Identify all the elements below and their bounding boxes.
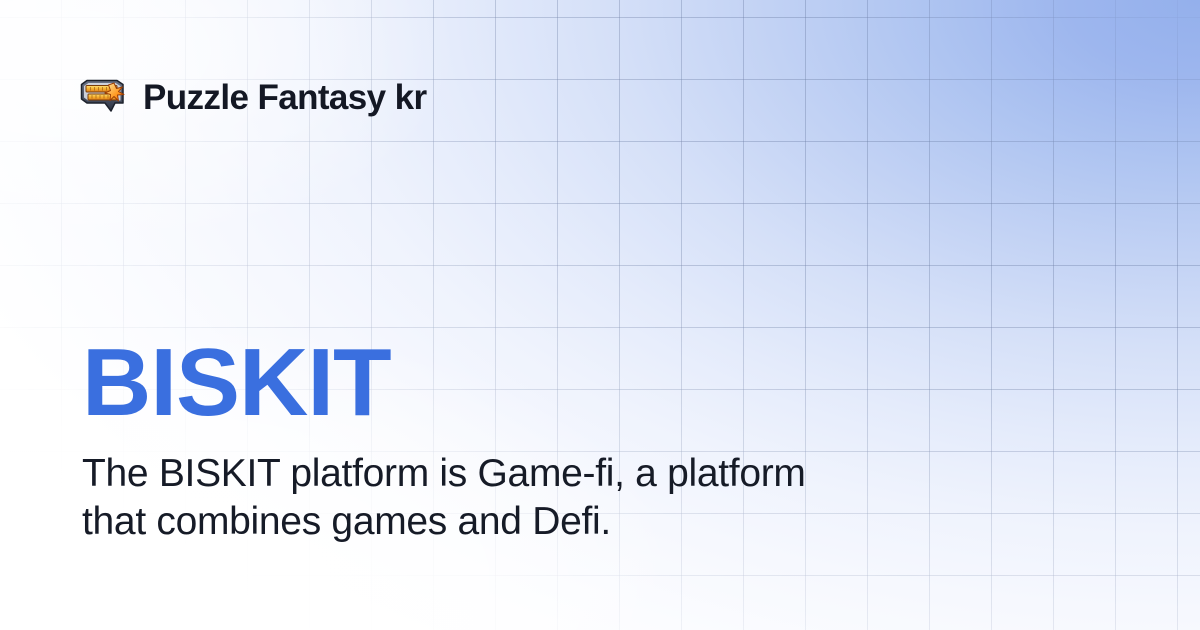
brand-header: Puzzle Fantasy kr — [78, 78, 427, 116]
puzzle-fantasy-logo-icon — [78, 78, 126, 116]
card-content: BISKIT The BISKIT platform is Game-fi, a… — [82, 334, 1102, 547]
brand-name: Puzzle Fantasy kr — [143, 80, 427, 115]
page-description: The BISKIT platform is Game-fi, a platfo… — [82, 450, 842, 547]
page-title: BISKIT — [82, 334, 1102, 432]
og-preview-card: Puzzle Fantasy kr BISKIT The BISKIT plat… — [0, 0, 1200, 630]
